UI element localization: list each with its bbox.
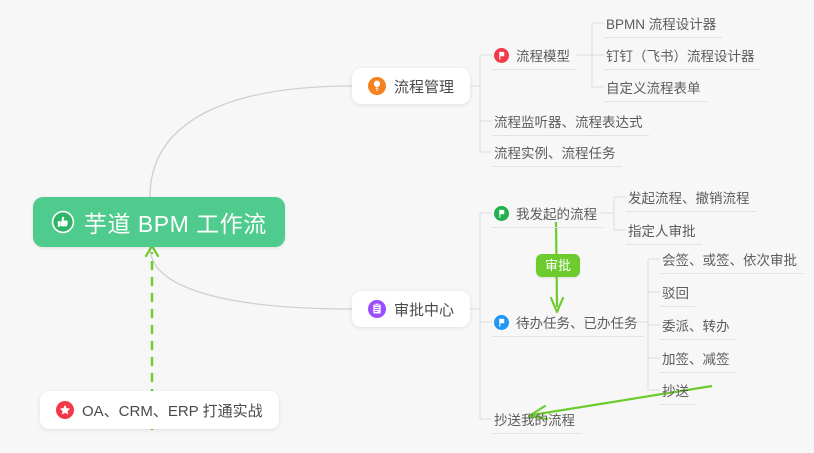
node-add-remove-sign[interactable]: 加签、减签 <box>660 344 736 373</box>
node-label: 钉钉（飞书）流程设计器 <box>606 45 755 65</box>
lightbulb-icon <box>368 77 386 95</box>
bottom-note-label: OA、CRM、ERP 打通实战 <box>82 400 263 421</box>
node-process-listener[interactable]: 流程监听器、流程表达式 <box>492 107 649 136</box>
node-designated-approval[interactable]: 指定人审批 <box>626 216 702 245</box>
node-label: 指定人审批 <box>628 220 696 240</box>
bottom-note-card[interactable]: OA、CRM、ERP 打通实战 <box>40 391 279 429</box>
flag-icon <box>494 48 509 63</box>
node-label: 自定义流程表单 <box>606 77 701 97</box>
node-label: 抄送 <box>662 380 689 400</box>
node-label: 我发起的流程 <box>516 203 597 223</box>
approval-tag: 审批 <box>536 254 580 277</box>
root-node[interactable]: 芋道 BPM 工作流 <box>33 197 285 247</box>
branch-approval-center[interactable]: 审批中心 <box>352 291 470 327</box>
node-label: 抄送我的流程 <box>494 409 575 429</box>
node-label: 委派、转办 <box>662 315 730 335</box>
node-process-model[interactable]: 流程模型 <box>492 41 576 70</box>
node-dingtalk-designer[interactable]: 钉钉（飞书）流程设计器 <box>604 41 761 70</box>
branch-label: 流程管理 <box>394 76 454 97</box>
node-custom-form[interactable]: 自定义流程表单 <box>604 73 707 102</box>
node-label: 驳回 <box>662 282 689 302</box>
node-reject[interactable]: 驳回 <box>660 278 695 307</box>
mindmap-canvas: 芋道 BPM 工作流 流程管理 流程模型 BPMN 流程设计器 钉钉（飞书）流程… <box>0 0 814 453</box>
node-label: 会签、或签、依次审批 <box>662 249 797 269</box>
node-label: 加签、减签 <box>662 348 730 368</box>
node-process-instance[interactable]: 流程实例、流程任务 <box>492 138 622 167</box>
node-start-cancel-process[interactable]: 发起流程、撤销流程 <box>626 183 756 212</box>
node-bpmn-designer[interactable]: BPMN 流程设计器 <box>604 9 722 38</box>
branch-label: 审批中心 <box>394 299 454 320</box>
star-icon <box>56 401 74 419</box>
node-cc[interactable]: 抄送 <box>660 376 695 405</box>
branch-process-management[interactable]: 流程管理 <box>352 68 470 104</box>
node-label: 流程实例、流程任务 <box>494 142 616 162</box>
flag-icon <box>494 206 509 221</box>
node-cc-to-me[interactable]: 抄送我的流程 <box>492 405 581 434</box>
node-label: 流程模型 <box>516 45 570 65</box>
node-label: 待办任务、已办任务 <box>516 312 638 332</box>
node-label: 流程监听器、流程表达式 <box>494 111 643 131</box>
node-delegate-transfer[interactable]: 委派、转办 <box>660 311 736 340</box>
node-label: BPMN 流程设计器 <box>606 13 716 33</box>
flag-icon <box>494 315 509 330</box>
thumbs-up-icon <box>51 210 75 234</box>
node-countersign[interactable]: 会签、或签、依次审批 <box>660 245 803 274</box>
node-my-initiated-process[interactable]: 我发起的流程 <box>492 199 603 228</box>
clipboard-icon <box>368 300 386 318</box>
node-todo-done-tasks[interactable]: 待办任务、已办任务 <box>492 308 644 337</box>
root-label: 芋道 BPM 工作流 <box>84 205 267 239</box>
node-label: 发起流程、撤销流程 <box>628 187 750 207</box>
